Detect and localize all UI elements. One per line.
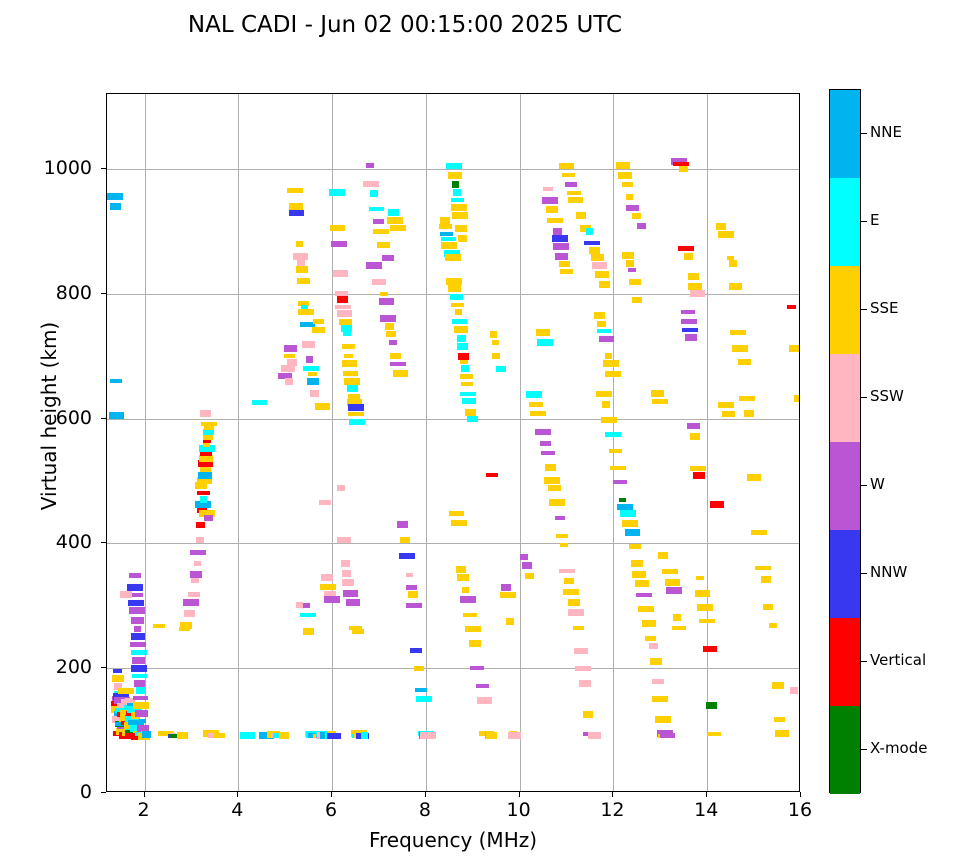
echo-point [452,212,468,219]
echo-point [637,223,646,229]
echo-point [666,587,682,594]
echo-point [287,188,303,193]
colorbar-tick [861,133,867,134]
x-tick [800,792,801,797]
echo-point [681,319,697,324]
echo-point [201,422,217,426]
echo-point [284,345,297,352]
y-tick [101,542,106,543]
echo-point [622,520,638,527]
echo-point [568,609,584,616]
colorbar-label-x-mode: X-mode [870,741,927,756]
echo-point [347,385,358,392]
x-tick [519,792,520,797]
echo-point [699,619,715,623]
echo-point [306,356,313,363]
echo-point [761,576,771,583]
x-tick-label: 16 [770,799,830,821]
echo-point [303,628,314,635]
echo-point [361,732,368,739]
echo-point [112,675,124,682]
echo-point [690,466,706,471]
echo-point [406,585,417,590]
echo-point [789,345,800,352]
echo-point [589,247,600,254]
echo-point [344,378,360,385]
y-tick [101,168,106,169]
colorbar-label-sse: SSE [870,301,899,316]
echo-point [690,290,705,297]
x-tick [706,792,707,797]
echo-point [329,189,345,196]
echo-point [204,515,213,521]
echo-point [195,482,207,489]
echo-point [461,382,473,386]
echo-point [522,562,532,569]
echo-point [390,353,401,359]
echo-point [132,674,147,678]
echo-point [625,529,640,536]
echo-point [284,354,295,358]
echo-point [153,624,165,628]
echo-point [441,242,457,249]
echo-point [397,521,408,528]
echo-point [342,579,354,586]
echo-point [679,166,688,172]
gridline-horizontal [107,543,799,544]
echo-point [289,210,304,216]
colorbar-label-w: W [870,477,885,492]
echo-point [552,235,568,242]
echo-point [787,305,796,309]
echo-point [576,212,586,219]
echo-point [652,679,664,684]
echo-point [541,451,555,455]
colorbar-segment-x-mode[interactable] [830,706,860,794]
echo-point [574,648,588,654]
echo-point [751,530,767,535]
echo-point [406,603,422,608]
echo-point [343,332,351,336]
colorbar-tick [861,749,867,750]
echo-point [697,604,713,611]
echo-point [622,182,633,187]
echo-point [134,626,141,632]
echo-point [113,669,122,673]
echo-point [622,252,634,259]
echo-point [688,273,699,280]
echo-point [342,344,355,349]
echo-point [337,310,352,317]
echo-point [333,270,348,277]
y-tick [101,418,106,419]
echo-point [131,665,147,672]
echo-point [645,636,656,641]
echo-point [727,256,734,260]
echo-point [703,646,717,652]
echo-point [130,642,146,647]
echo-point [462,587,469,593]
echo-point [642,620,656,627]
colorbar-segment-vertical[interactable] [830,618,860,706]
echo-point [508,732,521,739]
gridline-vertical [332,94,333,791]
echo-point [636,593,652,597]
echo-point [559,261,570,267]
echo-point [388,209,399,216]
echo-point [450,294,463,300]
colorbar-segment-w[interactable] [830,442,860,530]
echo-point [400,537,410,543]
echo-point [293,253,308,260]
echo-point [342,570,351,577]
echo-point [136,687,145,694]
echo-point [337,485,345,491]
echo-point [470,666,484,670]
echo-point [476,684,489,688]
echo-point [248,732,255,739]
x-axis-label: Frequency (MHz) [106,828,800,852]
echo-point [352,629,364,634]
echo-point [682,328,698,332]
echo-point [537,339,553,346]
echo-point [545,464,556,471]
echo-point [134,680,145,687]
colorbar-tick [861,397,867,398]
echo-point [707,732,721,736]
echo-point [348,404,364,411]
echo-point [184,610,195,617]
echo-point [420,732,436,739]
echo-point [194,561,201,566]
echo-point [315,403,330,410]
echo-point [349,419,365,425]
echo-point [543,187,553,191]
echo-point [188,592,200,597]
echo-point [529,402,543,407]
echo-point [300,613,316,617]
echo-point [602,401,610,408]
echo-point [446,163,462,169]
echo-point [536,329,550,336]
y-tick-label: 200 [8,656,92,678]
echo-point [575,666,591,671]
echo-point [373,219,384,224]
echo-point [650,658,662,665]
echo-point [177,732,188,739]
colorbar-segment-nnw[interactable] [830,530,860,618]
echo-point [685,334,697,341]
echo-point [535,429,551,435]
echo-point [341,560,350,567]
echo-point [200,496,207,503]
echo-point [109,412,124,419]
echo-point [343,371,358,376]
echo-point [460,392,476,396]
echo-point [127,584,143,591]
echo-point [688,283,702,290]
echo-point [564,578,574,584]
echo-point [448,172,462,179]
echo-point [616,162,630,169]
y-tick [101,792,106,793]
echo-point [555,253,568,260]
echo-point [191,578,199,583]
gridline-horizontal [107,169,799,170]
echo-point [619,498,626,502]
echo-point [658,552,668,559]
echo-point [690,433,700,440]
echo-point [451,204,467,211]
colorbar-segment-e[interactable] [830,178,860,266]
echo-point [568,197,583,203]
echo-point [198,472,212,479]
echo-point [722,411,735,417]
gridline-vertical [520,94,521,791]
echo-point [337,537,351,543]
echo-point [457,343,468,350]
echo-point [281,365,295,372]
y-tick [101,667,106,668]
echo-point [331,241,347,247]
echo-point [128,600,144,606]
echo-point [406,573,413,577]
echo-point [390,225,406,231]
echo-point [451,303,464,307]
echo-point [609,449,622,453]
colorbar-segment-nne[interactable] [830,90,860,178]
echo-point [296,266,308,273]
colorbar-label-e: E [870,213,879,228]
echo-point [695,590,710,597]
echo-point [605,353,612,359]
echo-point [660,733,675,738]
echo-point [568,599,580,606]
echo-point [312,327,325,333]
echo-point [603,360,619,367]
echo-point [449,511,464,516]
echo-point [416,696,432,702]
echo-point [738,359,751,365]
echo-point [599,336,614,342]
echo-point [200,410,211,417]
x-tick-label: 14 [676,799,736,821]
echo-point [297,278,310,284]
echo-point [556,534,568,538]
echo-point [369,207,384,211]
echo-point [555,516,565,520]
echo-point [763,604,773,610]
echo-point [110,203,121,210]
echo-point [330,225,345,231]
echo-point [408,591,418,598]
echo-point [298,309,314,315]
echo-point [110,379,122,383]
echo-point [594,312,605,319]
echo-point [553,228,562,235]
echo-point [486,732,497,739]
colorbar-segment-ssw[interactable] [830,354,860,442]
echo-point [696,576,704,580]
x-tick-label: 8 [395,799,455,821]
echo-point [626,194,633,200]
echo-point [455,309,462,315]
x-tick-label: 2 [114,799,174,821]
echo-point [597,329,611,333]
echo-point [496,366,506,372]
echo-point [772,682,784,689]
echo-point [446,278,462,285]
echo-point [463,613,477,617]
echo-point [560,543,568,547]
plot-area[interactable] [106,93,800,792]
echo-point [693,472,705,479]
echo-point [448,285,461,292]
echo-point [662,569,678,574]
echo-point [492,353,500,359]
echo-point [579,680,591,687]
echo-point [599,281,610,288]
echo-point [346,599,360,606]
echo-point [310,390,319,397]
echo-point [755,566,771,570]
echo-point [285,378,293,385]
echo-point [626,205,639,211]
echo-point [196,537,204,543]
echo-point [344,354,353,358]
echo-point [520,554,528,560]
echo-point [601,417,617,423]
echo-point [307,378,319,385]
echo-point [135,710,148,717]
colorbar-label-nne: NNE [870,125,902,140]
echo-point [296,602,303,608]
echo-point [460,596,476,603]
echo-point [596,391,612,397]
echo-point [343,590,358,597]
echo-point [584,241,600,245]
echo-point [190,550,206,555]
echo-point [592,262,607,269]
echo-point [348,412,364,416]
echo-point [629,544,641,549]
echo-point [327,733,341,739]
echo-point [567,191,581,195]
echo-point [453,189,461,196]
echo-point [546,206,558,213]
x-tick-label: 12 [582,799,642,821]
echo-point [415,688,427,692]
ionogram-figure: NAL CADI - Jun 02 00:15:00 2025 UTC 2468… [0,0,972,865]
echo-point [744,410,754,417]
echo-point [302,341,315,348]
echo-point [769,623,777,628]
echo-point [380,315,396,322]
echo-point [542,197,558,204]
echo-point [335,291,348,296]
y-tick [101,293,106,294]
echo-point [196,522,205,528]
colorbar-tick [861,221,867,222]
y-axis-label: Virtual height (km) [37,266,61,566]
echo-point [131,633,145,640]
echo-point [132,657,145,664]
echo-point [649,643,658,649]
echo-point [366,163,374,168]
echo-point [131,617,144,624]
echo-point [451,198,464,202]
echo-point [373,229,389,234]
echo-point [372,279,386,285]
echo-point [399,553,415,559]
echo-point [544,477,560,484]
echo-point [452,319,467,324]
echo-point [540,441,551,446]
echo-point [324,596,340,603]
echo-point [632,213,641,219]
echo-point [335,305,351,309]
echo-point [526,391,542,398]
echo-point [456,566,466,573]
echo-point [729,283,742,290]
echo-point [204,425,214,430]
echo-point [560,269,573,274]
colorbar-segment-sse[interactable] [830,266,860,354]
echo-point [385,323,394,330]
echo-point [525,573,534,579]
page-title: NAL CADI - Jun 02 00:15:00 2025 UTC [0,12,810,38]
echo-point [652,399,668,404]
echo-point [386,331,396,337]
x-tick [144,792,145,797]
echo-point [252,400,267,405]
echo-point [588,732,601,739]
echo-point [445,254,461,261]
colorbar-tick [861,661,867,662]
echo-point [387,217,403,224]
echo-point [605,371,621,377]
echo-point [458,353,469,360]
echo-point [454,326,468,333]
echo-point [628,268,636,272]
echo-point [389,340,397,345]
echo-point [687,423,700,429]
echo-point [382,255,394,261]
echo-point [638,606,654,612]
echo-point [120,591,132,598]
echo-point [139,719,146,723]
echo-point [393,370,408,377]
colorbar[interactable] [829,89,861,793]
echo-point [620,510,636,517]
echo-point [133,696,148,700]
echo-point [377,242,390,248]
echo-point [458,235,467,242]
echo-point [455,225,467,232]
echo-point [366,262,382,269]
echo-point [129,573,141,578]
echo-point [573,626,584,630]
echo-point [390,362,406,366]
echo-point [133,702,149,709]
echo-point [665,579,680,586]
x-tick [237,792,238,797]
colorbar-tick [861,485,867,486]
echo-point [632,297,642,303]
echo-point [549,499,565,506]
echo-point [451,520,467,526]
colorbar-label-nnw: NNW [870,565,907,580]
